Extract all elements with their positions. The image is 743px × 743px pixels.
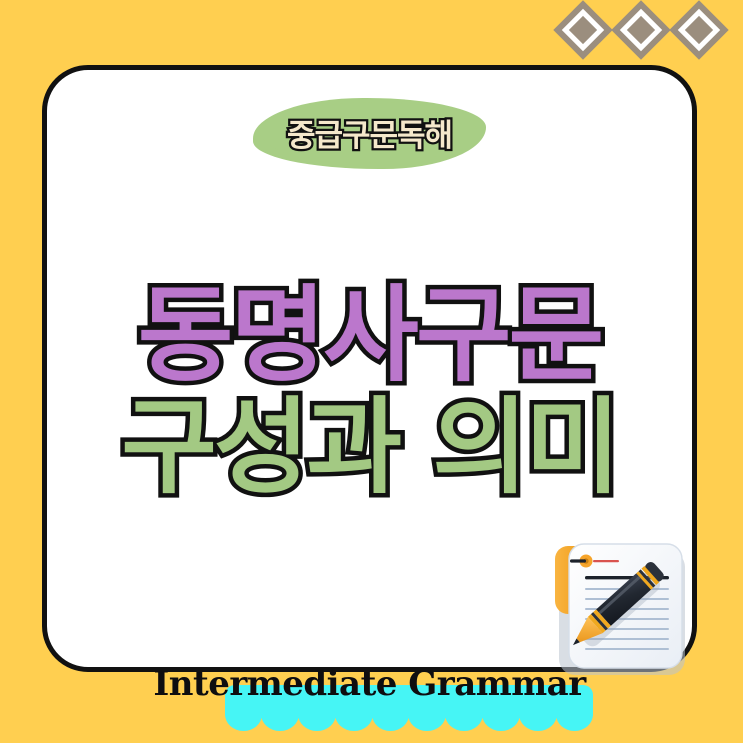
notepad-with-pencil-icon	[543, 529, 695, 681]
scallop-tooth	[482, 714, 520, 731]
badge-label: 중급구문독해	[287, 118, 452, 154]
scallop-tooth	[408, 714, 446, 731]
diamond-decoration-row	[557, 4, 725, 56]
highlight-band-scallops	[225, 714, 593, 731]
poster-canvas: 중급구문독해 동명사구문 구성과 의미 Intermediate Grammar	[0, 0, 743, 743]
category-badge: 중급구문독해	[253, 98, 486, 169]
scallop-tooth	[372, 714, 410, 731]
badge-container: 중급구문독해	[47, 93, 692, 173]
headline-line-1: 동명사구문	[47, 283, 692, 387]
scallop-tooth	[519, 714, 557, 731]
scallop-tooth	[261, 714, 299, 731]
diamond-icon-1	[557, 4, 609, 56]
diamond-icon-3	[673, 4, 725, 56]
scallop-tooth	[298, 714, 336, 731]
scallop-tooth	[556, 714, 594, 731]
scallop-tooth	[335, 714, 373, 731]
scallop-tooth	[445, 714, 483, 731]
scallop-tooth	[225, 714, 263, 731]
page-title: 동명사구문 구성과 의미	[47, 283, 692, 499]
headline-line-2: 구성과 의미	[47, 395, 692, 499]
diamond-icon-2	[615, 4, 667, 56]
